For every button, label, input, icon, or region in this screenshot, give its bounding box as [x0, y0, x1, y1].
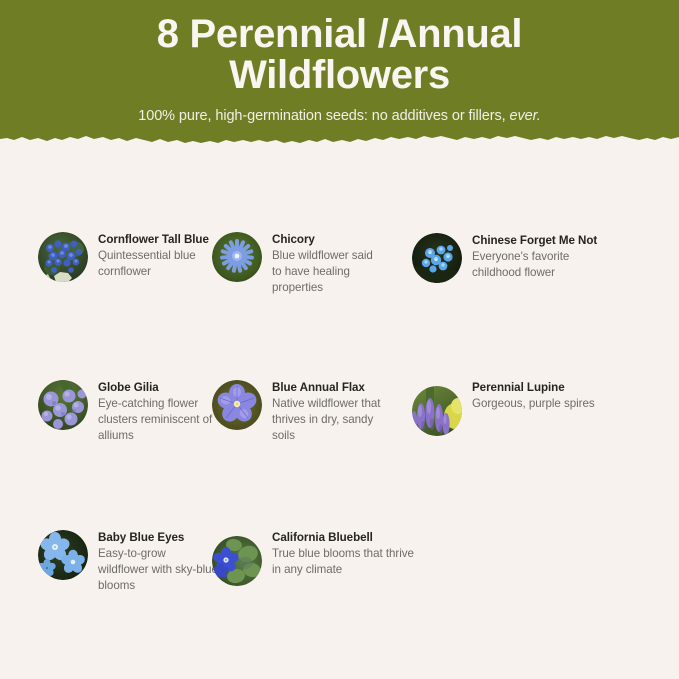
- flower-card-perennial-lupine[interactable]: Perennial Lupine Gorgeous, purple spires: [412, 355, 679, 505]
- flower-text: Chinese Forget Me Not Everyone's favorit…: [472, 233, 612, 281]
- flower-row: Baby Blue Eyes Easy-to-grow wildflower w…: [0, 505, 679, 655]
- flower-text: Baby Blue Eyes Easy-to-grow wildflower w…: [98, 530, 218, 594]
- lupine-thumbnail: [412, 386, 462, 436]
- flower-text: Blue Annual Flax Native wildflower that …: [272, 380, 392, 444]
- flower-description: Blue wildflower said to have healing pro…: [272, 248, 384, 297]
- flower-text: Perennial Lupine Gorgeous, purple spires: [472, 380, 602, 412]
- flower-card-chicory[interactable]: Chicory Blue wildflower said to have hea…: [208, 205, 412, 355]
- chicory-thumbnail: [212, 232, 262, 282]
- flower-card-cornflower-tall-blue[interactable]: Cornflower Tall Blue Quintessential blue…: [0, 205, 208, 355]
- globe-gilia-thumbnail: [38, 380, 88, 430]
- baby-blue-eyes-thumbnail: [38, 530, 88, 580]
- flower-name: Blue Annual Flax: [272, 381, 392, 396]
- flower-card-blue-annual-flax[interactable]: Blue Annual Flax Native wildflower that …: [208, 355, 412, 505]
- cornflower-thumbnail: [38, 232, 88, 282]
- flower-text: California Bluebell True blue blooms tha…: [272, 530, 422, 578]
- page-title: 8 Perennial /Annual Wildflowers: [0, 14, 679, 96]
- flower-card-empty: [412, 505, 679, 655]
- flower-grid: Cornflower Tall Blue Quintessential blue…: [0, 205, 679, 655]
- flower-text: Chicory Blue wildflower said to have hea…: [272, 232, 384, 296]
- page-subtitle-emphasis: ever.: [510, 108, 541, 124]
- flower-description: Native wildflower that thrives in dry, s…: [272, 396, 392, 445]
- flower-card-globe-gilia[interactable]: Globe Gilia Eye-catching flower clusters…: [0, 355, 208, 505]
- flower-row: Globe Gilia Eye-catching flower clusters…: [0, 355, 679, 505]
- header-banner: 8 Perennial /Annual Wildflowers 100% pur…: [0, 0, 679, 152]
- forget-me-not-thumbnail: [412, 233, 462, 283]
- header-content: 8 Perennial /Annual Wildflowers 100% pur…: [0, 0, 679, 125]
- flower-name: Perennial Lupine: [472, 381, 602, 396]
- blue-flax-thumbnail: [212, 380, 262, 430]
- page-title-line-2: Wildflowers: [229, 53, 450, 97]
- flower-description: Easy-to-grow wildflower with sky-blue bl…: [98, 546, 218, 595]
- flower-card-baby-blue-eyes[interactable]: Baby Blue Eyes Easy-to-grow wildflower w…: [0, 505, 208, 655]
- flower-description: Gorgeous, purple spires: [472, 396, 602, 412]
- flower-description: True blue blooms that thrive in any clim…: [272, 546, 422, 578]
- flower-description: Everyone's favorite childhood flower: [472, 249, 612, 281]
- page-subtitle-main: 100% pure, high-germination seeds: no ad…: [138, 108, 509, 124]
- flower-name: Baby Blue Eyes: [98, 531, 218, 546]
- flower-name: Chicory: [272, 233, 384, 248]
- page-title-line-1: 8 Perennial /Annual: [157, 12, 523, 56]
- flower-name: California Bluebell: [272, 531, 422, 546]
- california-bluebell-thumbnail: [212, 536, 262, 586]
- flower-row: Cornflower Tall Blue Quintessential blue…: [0, 205, 679, 355]
- torn-paper-edge-icon: [0, 126, 679, 152]
- flower-name: Chinese Forget Me Not: [472, 234, 612, 249]
- page-subtitle: 100% pure, high-germination seeds: no ad…: [0, 107, 679, 125]
- flower-card-chinese-forget-me-not[interactable]: Chinese Forget Me Not Everyone's favorit…: [412, 205, 679, 355]
- flower-card-california-bluebell[interactable]: California Bluebell True blue blooms tha…: [208, 505, 412, 655]
